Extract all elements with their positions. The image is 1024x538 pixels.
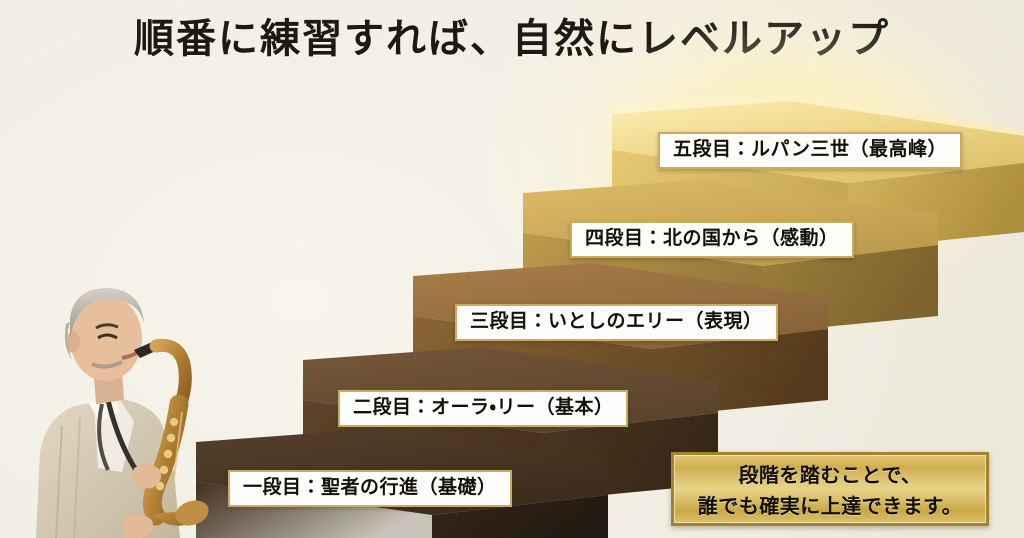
banner-line-1: 段階を踏むことで、 — [738, 459, 921, 488]
conclusion-banner: 段階を踏むことで、 誰でも確実に上達できます。 — [671, 452, 989, 526]
saxophone-player-illustration — [22, 272, 227, 538]
slide-canvas: 順番に練習すれば、自然にレベルアップ — [0, 0, 1024, 538]
step-label-5: 五段目：ルパン三世（最高峰） — [658, 132, 962, 169]
step-label-3: 三段目：いとしのエリー（表現） — [455, 304, 778, 341]
step-label-1: 一段目：聖者の行進（基礎） — [228, 470, 512, 507]
hand-upper — [132, 464, 161, 488]
step-label-2: 二段目：オーラ・リー（基本） — [338, 390, 628, 427]
step-label-4: 四段目：北の国から（感動） — [570, 221, 854, 258]
banner-line-2: 誰でも確実に上達できます。 — [698, 490, 963, 519]
